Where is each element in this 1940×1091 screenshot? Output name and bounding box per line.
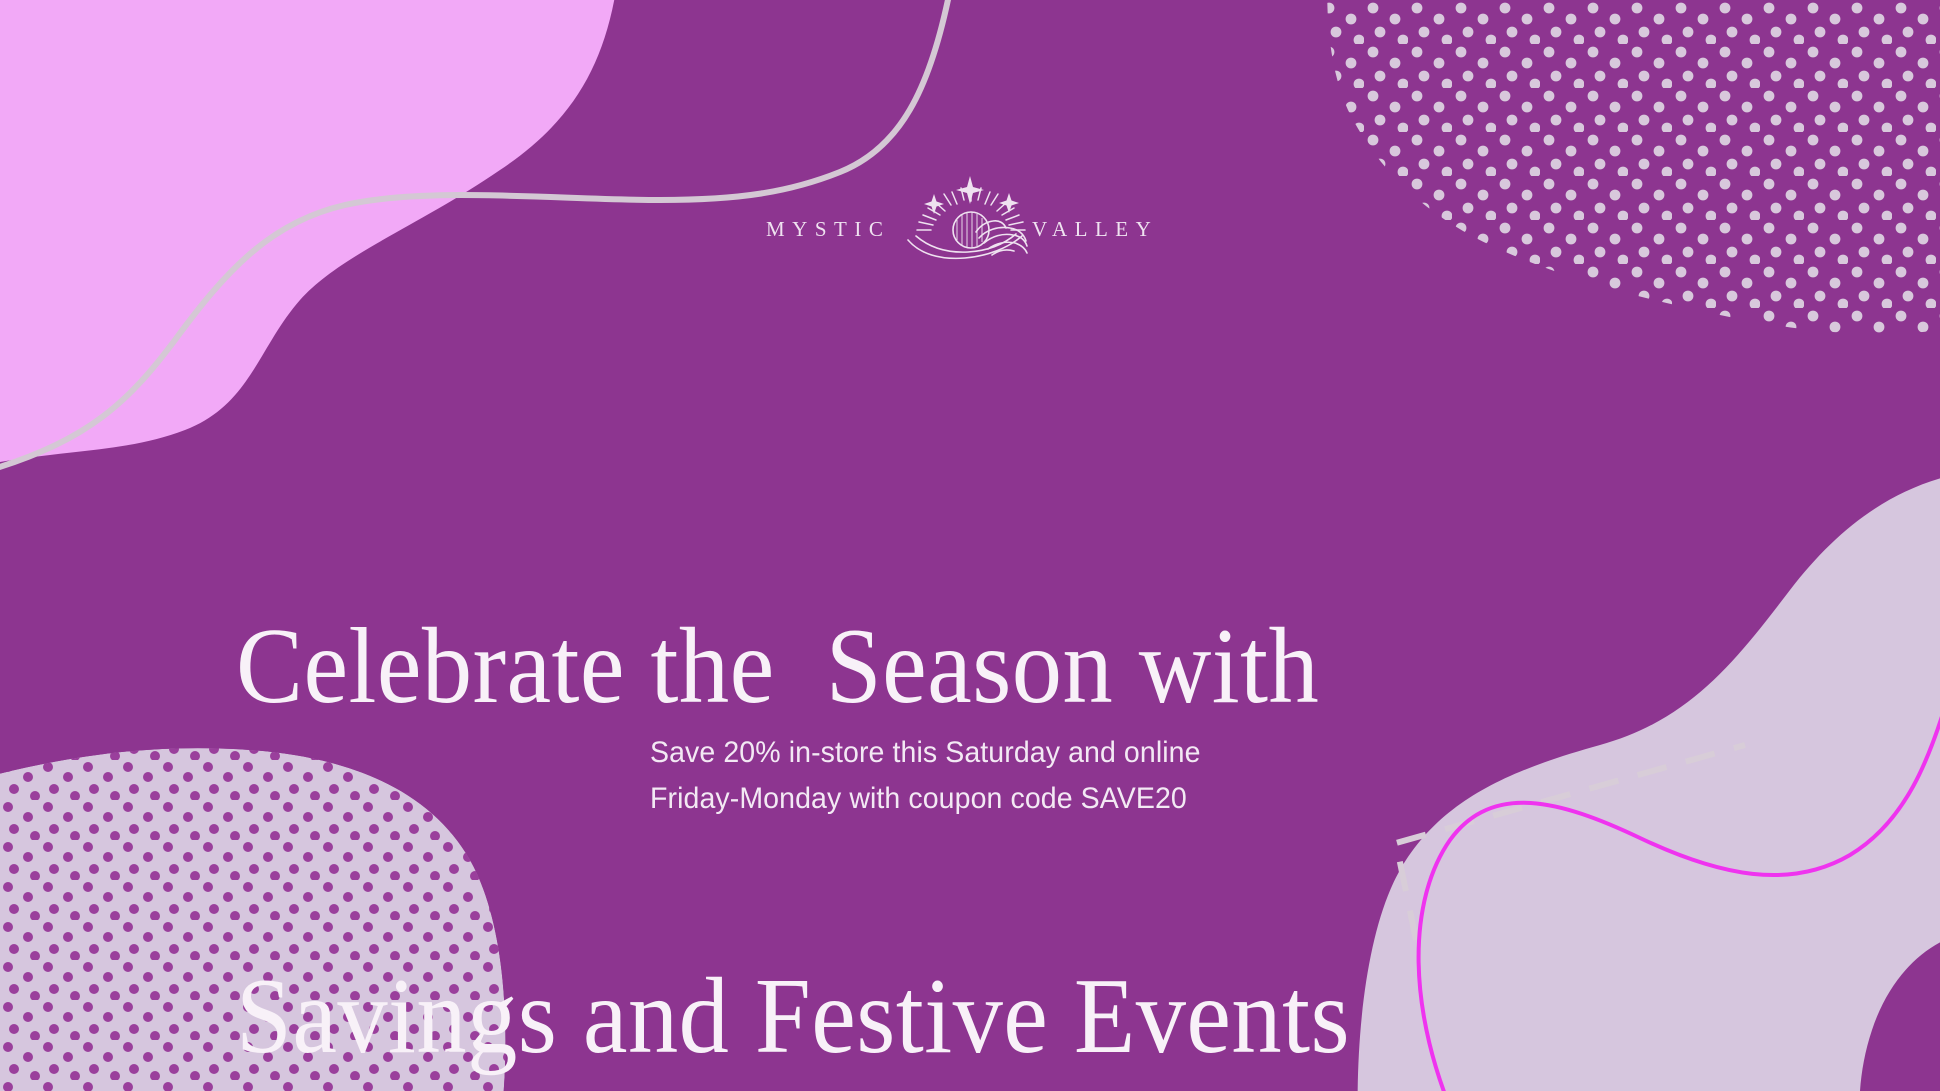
promo-banner: MYSTIC VALLEY Celebrate the Season with …: [0, 0, 1940, 1091]
logo-word-left: MYSTIC: [766, 217, 890, 241]
subtext-line-2: Friday-Monday with coupon code SAVE20: [650, 776, 1201, 822]
sparkle-star-right: [999, 193, 1019, 213]
top-right-dot-field: [1300, 0, 1940, 380]
brand-logo: MYSTIC VALLEY: [760, 168, 1180, 260]
dashed-angled-line: [1396, 745, 1745, 940]
magenta-s-curve: [1419, 690, 1940, 1091]
subtext-line-1: Save 20% in-store this Saturday and onli…: [650, 730, 1201, 776]
lavender-blob-inner-notch: [1859, 930, 1940, 1091]
lavender-blob-shape: [1358, 470, 1940, 1091]
headline-line-2: Savings and Festive Events: [236, 959, 1333, 1076]
promo-subtext: Save 20% in-store this Saturday and onli…: [650, 730, 1201, 821]
headline-line-1: Celebrate the Season with: [236, 609, 1333, 726]
logo-word-right: VALLEY: [1032, 217, 1158, 241]
